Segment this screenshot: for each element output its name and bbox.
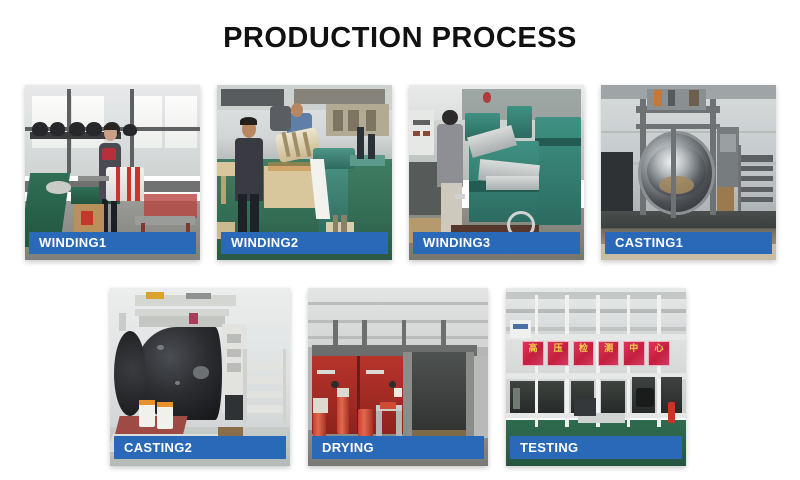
tile-row-top: WINDING1 (25, 85, 776, 260)
sign-char-5: 中 (623, 341, 645, 366)
page-title: PRODUCTION PROCESS (0, 22, 800, 55)
tile-label: CASTING2 (114, 436, 286, 459)
sign-char-6: 心 (648, 341, 670, 366)
tile-label: CASTING1 (605, 232, 772, 254)
production-process-page: PRODUCTION PROCESS (0, 0, 800, 480)
tile-label: WINDING1 (29, 232, 196, 254)
tile-label: WINDING2 (221, 232, 388, 254)
process-tile-winding1[interactable]: WINDING1 (25, 85, 200, 260)
tile-label: TESTING (510, 436, 682, 459)
process-tile-drying[interactable]: DRYING (308, 288, 488, 466)
process-tile-casting1[interactable]: CASTING1 (601, 85, 776, 260)
process-tile-winding3[interactable]: WINDING3 (409, 85, 584, 260)
sign-char-1: 高 (522, 341, 544, 366)
process-tile-testing[interactable]: 高 压 检 测 中 心 TESTING (506, 288, 686, 466)
sign-char-4: 测 (598, 341, 620, 366)
tile-label: DRYING (312, 436, 484, 459)
sign-char-2: 压 (547, 341, 569, 366)
process-tile-casting2[interactable]: CASTING2 (110, 288, 290, 466)
process-tile-winding2[interactable]: WINDING2 (217, 85, 392, 260)
tile-label: WINDING3 (413, 232, 580, 254)
tile-row-bottom: CASTING2 (110, 288, 686, 466)
sign-char-3: 检 (573, 341, 595, 366)
